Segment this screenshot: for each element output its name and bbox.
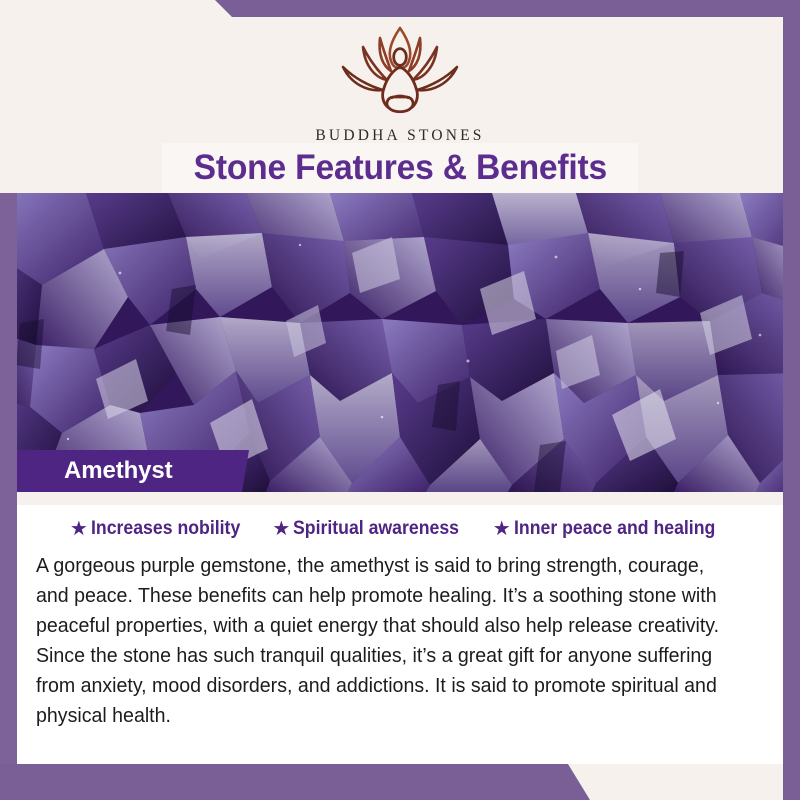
amethyst-crystal-cluster-photo [0,193,800,492]
frame-left-band [0,193,17,800]
stone-name-banner: Amethyst [17,450,249,492]
benefit-item-1: ★ Increases nobility [70,518,251,540]
benefits-list: ★ Increases nobility ★ Spiritual awarene… [17,505,783,540]
header-section: BUDDHA STONES Stone Features & Benefits [0,0,800,193]
brand-logo: BUDDHA STONES [0,22,800,145]
benefit-item-3: ★ Inner peace and healing [493,518,730,540]
star-icon: ★ [70,519,88,539]
page-title: Stone Features & Benefits [193,148,606,188]
lotus-meditation-icon [0,22,800,125]
benefit-label: Spiritual awareness [293,518,459,540]
stone-info-card: BUDDHA STONES Stone Features & Benefits [0,0,800,800]
frame-right-band [783,0,800,800]
stone-name: Amethyst [64,457,173,485]
content-panel: ★ Increases nobility ★ Spiritual awarene… [17,505,783,764]
page-title-plate: Stone Features & Benefits [162,143,638,193]
star-icon: ★ [493,519,511,539]
benefit-item-2: ★ Spiritual awareness [272,518,471,540]
divider-strip [0,492,800,505]
benefit-label: Inner peace and healing [514,518,715,540]
star-icon: ★ [272,519,290,539]
stone-description: A gorgeous purple gemstone, the amethyst… [36,551,732,731]
benefit-label: Increases nobility [91,518,240,540]
